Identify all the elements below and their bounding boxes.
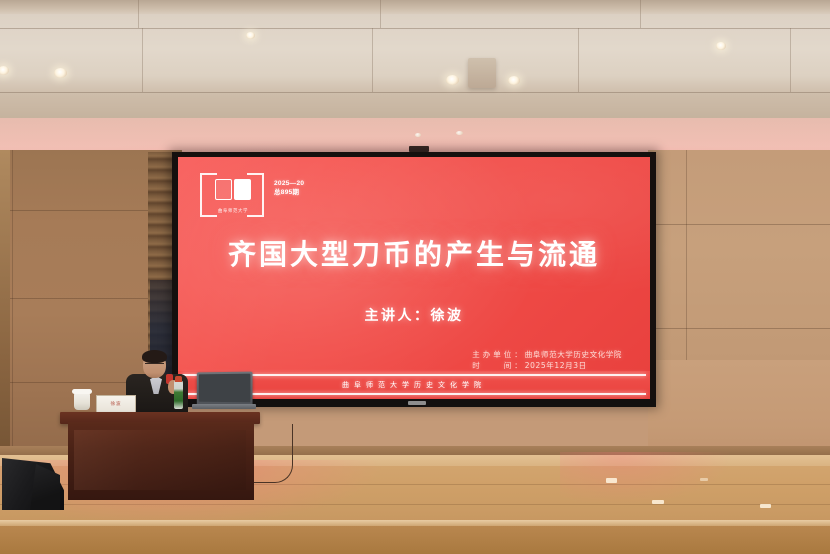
panel-seam: [648, 224, 830, 225]
logo-caption: 曲阜师范大学: [209, 208, 257, 214]
presenter-hair: [142, 350, 167, 363]
ceiling-beam: [0, 0, 830, 14]
water-bottle: [174, 380, 183, 409]
projection-screen: 曲阜师范大学 2025—20 总895期 齐国大型刀币的产生与流通 主讲人：徐波…: [172, 152, 656, 406]
downlight: [508, 76, 520, 85]
floor-reflection: [606, 478, 617, 483]
downlight: [716, 42, 726, 50]
logo-glyph-box: [215, 179, 232, 200]
slide-speaker-line: 主讲人：徐波: [178, 305, 650, 325]
table-reflection: [74, 430, 246, 490]
power-cable: [248, 424, 293, 483]
bottle-cap: [175, 376, 182, 382]
laptop-base: [192, 404, 256, 409]
slide-meta-label: 时 间：: [472, 361, 525, 370]
downlight: [446, 75, 459, 85]
nameplate-text: 徐波: [97, 401, 135, 407]
slide-meta-label: 主办单位：: [472, 350, 525, 359]
ceiling-seam: [138, 0, 139, 28]
ceiling-seam: [790, 28, 791, 92]
panel-seam: [648, 328, 830, 329]
slide-meta-value: 2025年12月3日: [525, 361, 587, 370]
slide-logo: 曲阜师范大学: [200, 173, 264, 215]
laptop-screen-bezel: [199, 374, 251, 403]
ceiling-seam: [640, 0, 641, 28]
ceiling-seam: [0, 28, 830, 29]
tea-cup-lid: [72, 389, 92, 394]
floor-reflection: [760, 504, 771, 508]
logo-glyph-box: [234, 179, 251, 200]
ceiling-seam: [578, 28, 579, 92]
issue-line-1: 2025—20: [274, 179, 304, 188]
slide-meta-value: 曲阜师范大学历史文化学院: [525, 350, 622, 359]
ceiling-speaker-box: [468, 58, 496, 88]
slide-meta-row: 时 间：2025年12月3日: [472, 360, 622, 371]
issue-line-2: 总895期: [274, 188, 304, 197]
wall-downlight: [415, 133, 421, 137]
glasses-icon: [145, 363, 164, 368]
laptop: [197, 372, 253, 407]
downlight: [0, 66, 9, 75]
downlight: [246, 32, 255, 39]
tea-cup: [74, 392, 90, 410]
screen-display: 曲阜师范大学 2025—20 总895期 齐国大型刀币的产生与流通 主讲人：徐波…: [178, 157, 650, 401]
floor-plank-seam: [0, 504, 830, 505]
wall-downlight: [456, 131, 463, 135]
ceiling-seam: [0, 92, 830, 93]
lecture-hall-photo: 曲阜师范大学 2025—20 总895期 齐国大型刀币的产生与流通 主讲人：徐波…: [0, 0, 830, 554]
ceiling-seam: [142, 28, 143, 92]
nameplate: 徐波: [96, 395, 136, 413]
ceiling-seam: [372, 28, 373, 92]
ceiling-seam: [380, 0, 381, 28]
stage-front-face: [0, 526, 830, 554]
slide-title: 齐国大型刀币的产生与流通: [178, 233, 650, 273]
screen-ir-receiver: [408, 401, 426, 405]
floor-reflection: [700, 478, 708, 481]
wall-corner-trim: [0, 150, 10, 495]
downlight: [54, 68, 67, 78]
slide-meta-block: 主办单位：曲阜师范大学历史文化学院 时 间：2025年12月3日: [472, 349, 622, 371]
floor-reflection: [652, 500, 664, 504]
panel-seam: [12, 150, 13, 490]
logo-glyph-group: [212, 176, 254, 202]
slide-meta-row: 主办单位：曲阜师范大学历史文化学院: [472, 349, 622, 360]
slide-issue-number: 2025—20 总895期: [274, 179, 304, 197]
ceiling: [0, 0, 830, 122]
